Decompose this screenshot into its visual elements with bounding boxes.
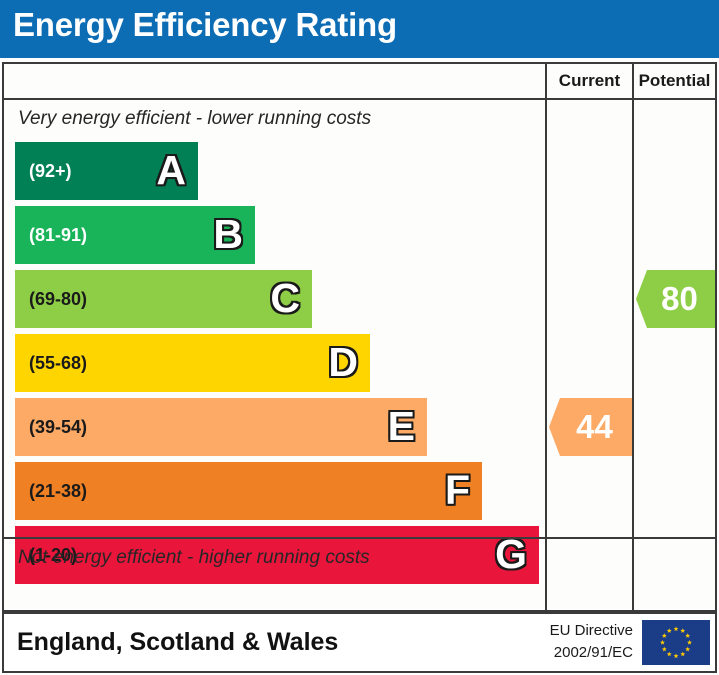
band-letter-c: C	[270, 270, 300, 328]
footer-directive: EU Directive 2002/91/EC	[528, 620, 633, 664]
band-letter-f: F	[445, 462, 470, 520]
rating-band-b: (81-91)B	[15, 206, 255, 264]
rating-band-f: (21-38)F	[15, 462, 482, 520]
chart-title-bar: Energy Efficiency Rating	[0, 0, 719, 58]
rating-badge-potential: 80	[636, 270, 715, 328]
footer-directive-line2: 2002/91/EC	[528, 642, 633, 664]
band-letter-a: A	[156, 142, 186, 200]
chart-footer: England, Scotland & Wales EU Directive 2…	[2, 612, 717, 673]
band-range-f: (21-38)	[29, 462, 87, 520]
rating-band-d: (55-68)D	[15, 334, 370, 392]
band-range-b: (81-91)	[29, 206, 87, 264]
band-range-e: (39-54)	[29, 398, 87, 456]
eu-flag-icon	[642, 620, 710, 665]
band-letter-d: D	[328, 334, 358, 392]
band-letter-b: B	[213, 206, 243, 264]
band-letter-e: E	[388, 398, 415, 456]
rating-band-c: (69-80)C	[15, 270, 312, 328]
energy-efficiency-rating-chart: Energy Efficiency Rating Current Potenti…	[0, 0, 719, 675]
rating-band-a: (92+)A	[15, 142, 198, 200]
rating-bands: (92+)A(81-91)B(69-80)C(55-68)D(39-54)E(2…	[4, 64, 545, 610]
column-divider-current	[545, 100, 547, 610]
footer-region-label: England, Scotland & Wales	[17, 614, 338, 671]
footer-directive-line1: EU Directive	[528, 620, 633, 642]
column-divider-potential	[632, 100, 634, 610]
band-range-a: (92+)	[29, 142, 72, 200]
rating-band-e: (39-54)E	[15, 398, 427, 456]
band-range-c: (69-80)	[29, 270, 87, 328]
band-range-d: (55-68)	[29, 334, 87, 392]
chart-frame: Current Potential Very energy efficient …	[2, 62, 717, 612]
page-title: Energy Efficiency Rating	[13, 6, 397, 44]
rating-badge-current: 44	[549, 398, 632, 456]
column-header-current: Current	[545, 64, 632, 98]
column-header-potential: Potential	[632, 64, 715, 98]
caption-inefficient: Not energy efficient - higher running co…	[4, 537, 545, 574]
